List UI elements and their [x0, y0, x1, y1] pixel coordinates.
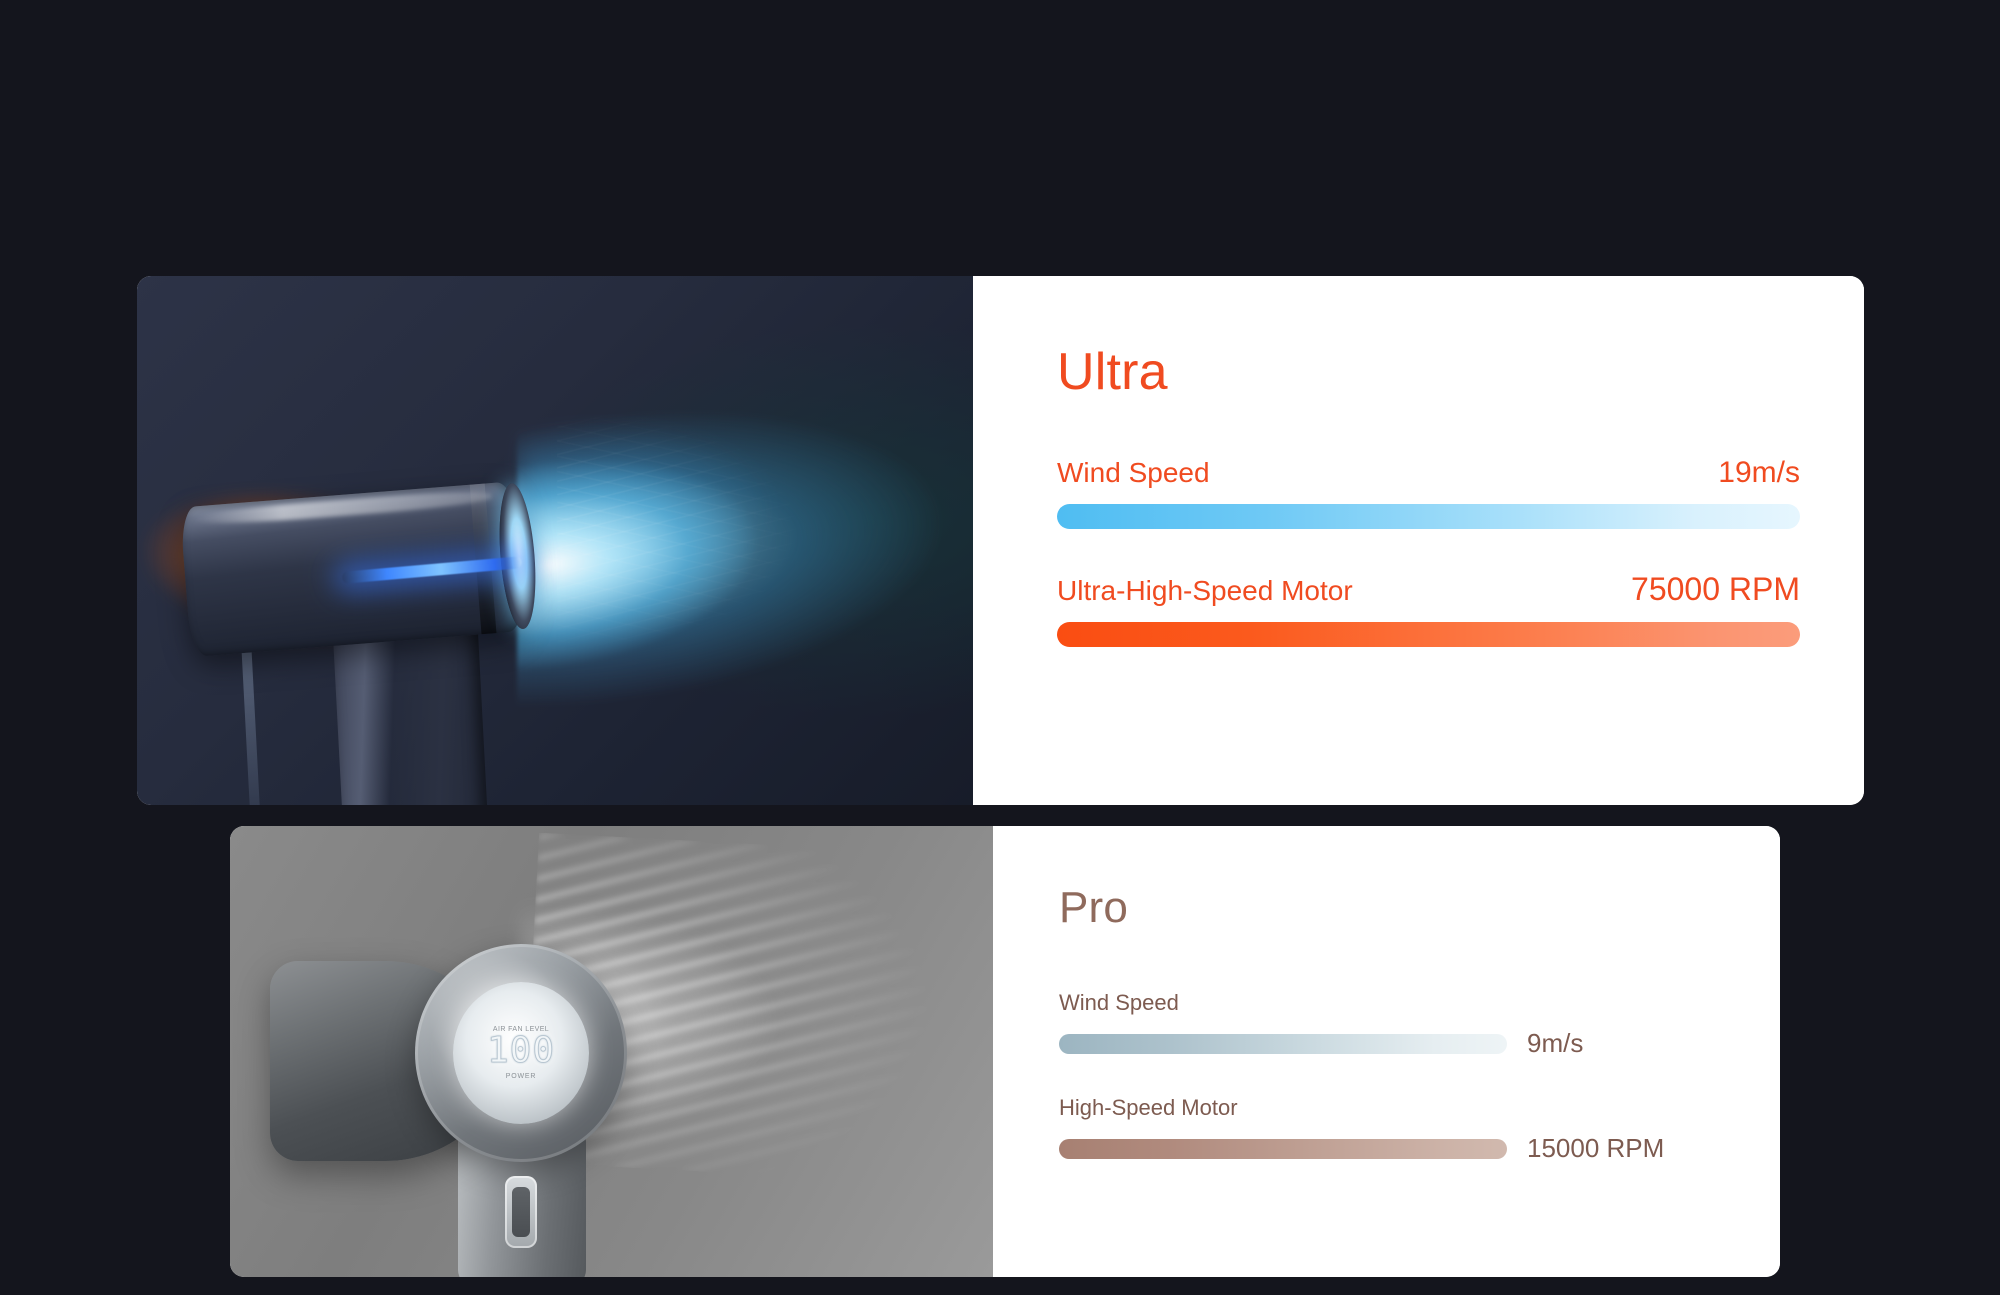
spec-label-motor-pro: High-Speed Motor: [1059, 1095, 1720, 1121]
card-title-ultra: Ultra: [1057, 346, 1800, 398]
product-image-pro: AIR FAN LEVEL 100 POWER: [230, 826, 993, 1277]
spec-bar-line: 9m/s: [1059, 1028, 1720, 1059]
spec-bar-motor: [1057, 622, 1800, 647]
spec-value-motor-pro: 15000 RPM: [1527, 1133, 1664, 1164]
spec-row-motor-pro: High-Speed Motor 15000 RPM: [1059, 1095, 1720, 1164]
spec-header: Ultra-High-Speed Motor 75000 RPM: [1057, 571, 1800, 608]
product-card-pro[interactable]: AIR FAN LEVEL 100 POWER Pro Wind Speed 9…: [230, 826, 1780, 1277]
dryer-head-graphic-pro: AIR FAN LEVEL 100 POWER: [415, 944, 627, 1162]
spec-bar-wind-speed: [1057, 504, 1800, 529]
spec-bar-line: 15000 RPM: [1059, 1133, 1720, 1164]
spec-value-wind-speed-pro: 9m/s: [1527, 1028, 1583, 1059]
display-bottom-label: POWER: [506, 1073, 536, 1080]
spec-row-motor-ultra: Ultra-High-Speed Motor 75000 RPM: [1057, 571, 1800, 647]
product-card-ultra[interactable]: Ultra Wind Speed 19m/s Ultra-High-Speed …: [137, 276, 1864, 805]
spec-value-motor: 75000 RPM: [1631, 571, 1800, 608]
spec-panel-pro: Pro Wind Speed 9m/s High-Speed Motor 150…: [993, 826, 1780, 1277]
spec-row-wind-speed-ultra: Wind Speed 19m/s: [1057, 456, 1800, 529]
spec-panel-ultra: Ultra Wind Speed 19m/s Ultra-High-Speed …: [973, 276, 1864, 805]
airflow-streamlines-graphic: [557, 406, 973, 656]
spec-bar-wind-speed-pro: [1059, 1034, 1507, 1054]
spec-label-wind-speed: Wind Speed: [1057, 457, 1210, 489]
spec-header: Wind Speed 19m/s: [1057, 456, 1800, 490]
power-button-graphic-pro: [505, 1176, 537, 1248]
spec-value-wind-speed: 19m/s: [1718, 456, 1800, 490]
display-value: 100: [487, 1033, 555, 1069]
spec-label-motor: Ultra-High-Speed Motor: [1057, 575, 1353, 607]
spec-label-wind-speed-pro: Wind Speed: [1059, 990, 1720, 1016]
product-image-ultra: [137, 276, 973, 805]
spec-bar-motor-pro: [1059, 1139, 1507, 1159]
card-title-pro: Pro: [1059, 886, 1720, 930]
spec-row-wind-speed-pro: Wind Speed 9m/s: [1059, 990, 1720, 1059]
page-root: Ultra Wind Speed 19m/s Ultra-High-Speed …: [0, 0, 2000, 1295]
led-display-pro: AIR FAN LEVEL 100 POWER: [453, 982, 589, 1124]
